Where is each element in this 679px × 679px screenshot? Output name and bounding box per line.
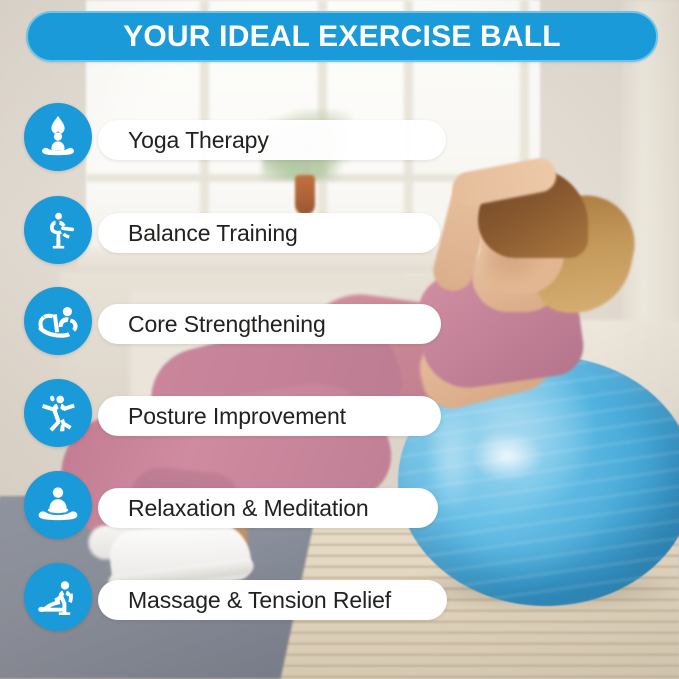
list-item[interactable]: Massage & Tension Relief (24, 563, 92, 631)
feature-pill: Posture Improvement (98, 396, 441, 436)
feature-pill: Balance Training (98, 213, 440, 253)
feature-label: Relaxation & Meditation (128, 495, 369, 522)
feature-list: Yoga Therapy Balance Training (0, 0, 679, 679)
yoga-lotus-icon (24, 103, 92, 171)
balance-stance-icon (24, 196, 92, 264)
feature-label: Core Strengthening (128, 311, 326, 338)
list-item[interactable]: Relaxation & Meditation (24, 471, 92, 539)
feature-label: Posture Improvement (128, 403, 346, 430)
meditation-seated-icon (24, 471, 92, 539)
warrior-pose-icon (24, 379, 92, 447)
feature-pill: Core Strengthening (98, 304, 441, 344)
list-item[interactable]: Posture Improvement (24, 379, 92, 447)
feature-pill: Relaxation & Meditation (98, 488, 438, 528)
sit-up-crunch-icon (24, 287, 92, 355)
feature-label: Yoga Therapy (128, 127, 269, 154)
feature-label: Balance Training (128, 220, 298, 247)
feature-label: Massage & Tension Relief (128, 587, 391, 614)
product-feature-infographic: YOUR IDEAL EXERCISE BALL Yoga Therapy (0, 0, 679, 679)
list-item[interactable]: Yoga Therapy (24, 103, 92, 171)
list-item[interactable]: Core Strengthening (24, 287, 92, 355)
feature-pill: Yoga Therapy (98, 120, 446, 160)
massage-therapy-icon (24, 563, 92, 631)
list-item[interactable]: Balance Training (24, 196, 92, 264)
feature-pill: Massage & Tension Relief (98, 580, 447, 620)
